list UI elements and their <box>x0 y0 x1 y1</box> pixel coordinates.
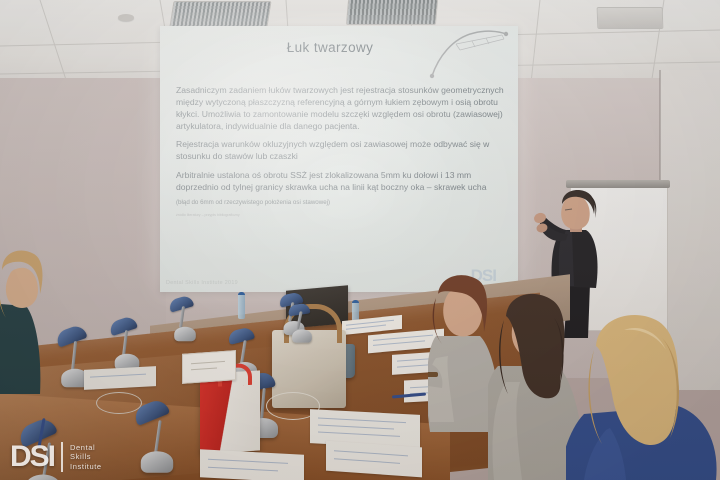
water-bottle-1 <box>238 292 245 319</box>
name-card <box>182 350 236 384</box>
slide-citation: źródło literatury – przypis bibliografic… <box>176 213 504 218</box>
person-attendee-blonde <box>566 310 720 480</box>
slide-body-text: Zasadniczym zadaniem łuków twarzowych je… <box>176 84 504 224</box>
lecture-room-photo: Łuk twarzowy Zasadniczym zadaniem łuków … <box>0 0 720 480</box>
smoke-detector <box>118 14 134 21</box>
cable-loop-2 <box>96 392 142 414</box>
ceiling-vent-right <box>598 8 663 28</box>
slide-paragraph-3: Arbitralnie ustalona oś obrotu SSŻ jest … <box>176 169 504 193</box>
watermark-divider <box>61 442 63 472</box>
slide-footer-watermark: Dental Skills Institute 2019 <box>166 280 238 286</box>
watermark-line-3: Institute <box>70 462 102 472</box>
watermark-line-2: Skills <box>70 452 102 462</box>
projection-screen: Łuk twarzowy Zasadniczym zadaniem łuków … <box>160 26 518 292</box>
dsi-logo-text: DSI <box>10 442 54 472</box>
slide-paragraph-2: Rejestracja warunków okluzyjnych względe… <box>176 138 504 162</box>
ceiling-vent-center <box>347 0 437 24</box>
person-attendee-left <box>0 244 54 394</box>
document-front-4 <box>84 366 156 390</box>
facebow-diagram-icon <box>426 28 510 82</box>
slide-paragraph-1: Zasadniczym zadaniem łuków twarzowych je… <box>176 84 504 132</box>
document-front-3 <box>200 449 304 480</box>
slide-note: (błąd do 6mm od rzeczywistego położenia … <box>176 199 504 207</box>
dsi-watermark: DSI Dental Skills Institute <box>10 442 102 472</box>
red-gift-bag <box>200 370 260 453</box>
watermark-tagline: Dental Skills Institute <box>70 443 102 472</box>
watermark-line-1: Dental <box>70 443 102 453</box>
